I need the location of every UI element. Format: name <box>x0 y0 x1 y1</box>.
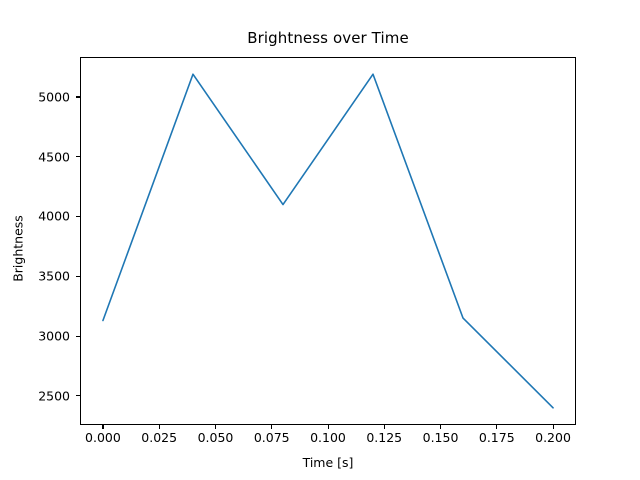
y-tick-mark <box>76 96 80 97</box>
y-tick-mark <box>76 216 80 217</box>
figure-canvas: Brightness over Time 2500300035004000450… <box>0 0 640 480</box>
x-tick-mark <box>102 425 103 429</box>
x-tick-mark <box>159 425 160 429</box>
x-axis-tick-labels: 0.0000.0250.0500.0750.1000.1250.1500.175… <box>0 0 640 480</box>
x-tick-label: 0.150 <box>423 430 459 445</box>
x-tick-label: 0.125 <box>366 430 402 445</box>
y-axis-label: Brightness <box>11 129 26 369</box>
x-tick-mark <box>384 425 385 429</box>
y-tick-mark <box>76 156 80 157</box>
x-tick-mark <box>553 425 554 429</box>
x-tick-mark <box>328 425 329 429</box>
x-tick-label: 0.100 <box>310 430 346 445</box>
x-tick-label: 0.175 <box>479 430 515 445</box>
x-tick-mark <box>215 425 216 429</box>
x-tick-label: 0.025 <box>141 430 177 445</box>
x-tick-mark <box>496 425 497 429</box>
x-axis-label: Time [s] <box>0 455 640 470</box>
y-tick-mark <box>76 395 80 396</box>
x-axis-label-text: Time [s] <box>303 455 354 470</box>
x-tick-mark <box>271 425 272 429</box>
x-tick-label: 0.050 <box>198 430 234 445</box>
x-tick-label: 0.075 <box>254 430 290 445</box>
x-tick-label: 0.200 <box>535 430 571 445</box>
x-tick-mark <box>440 425 441 429</box>
x-tick-label: 0.000 <box>85 430 121 445</box>
y-tick-mark <box>76 276 80 277</box>
y-tick-mark <box>76 336 80 337</box>
